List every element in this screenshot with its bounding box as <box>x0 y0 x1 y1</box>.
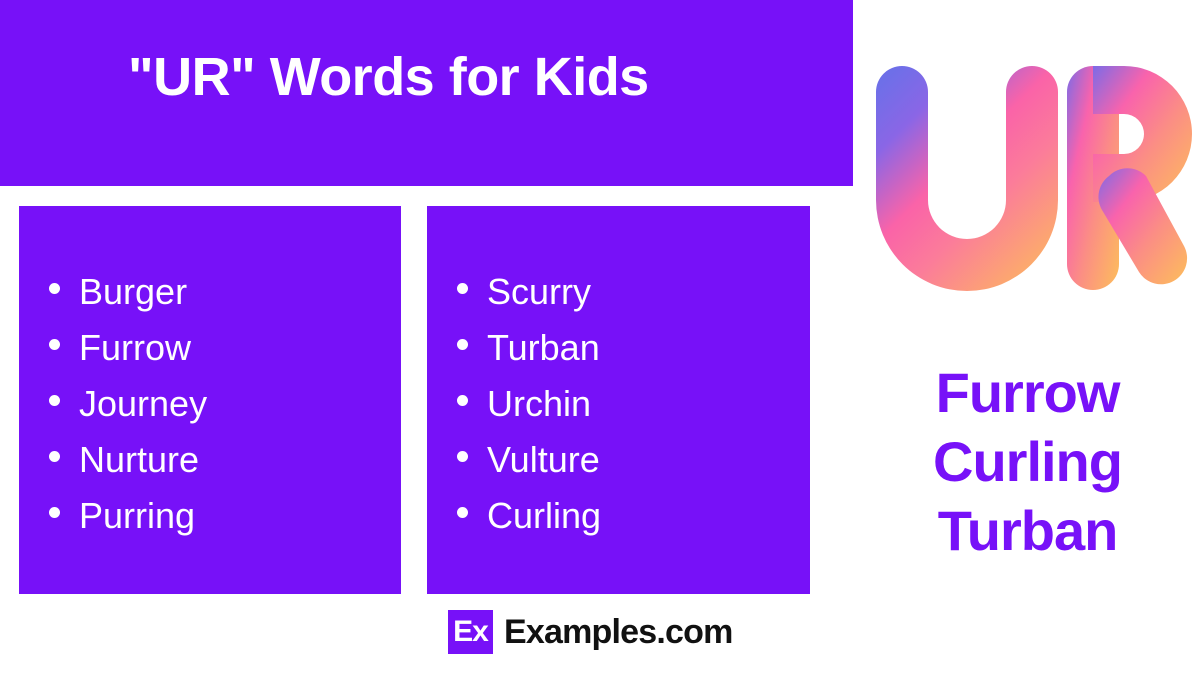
examples-badge-icon: Ex <box>448 610 493 654</box>
list-item: Scurry <box>457 264 601 320</box>
list-item: Furrow <box>49 320 207 376</box>
bullet-icon <box>457 283 468 294</box>
list-item: Purring <box>49 488 207 544</box>
header-banner: "UR" Words for Kids <box>0 0 853 186</box>
word-label: Urchin <box>487 376 591 432</box>
bullet-icon <box>457 339 468 350</box>
list-item: Turban <box>457 320 601 376</box>
list-item: Journey <box>49 376 207 432</box>
word-list-left: Burger Furrow Journey Nurture Purring <box>49 264 207 544</box>
word-label: Vulture <box>487 432 600 488</box>
word-label: Turban <box>487 320 600 376</box>
word-label: Scurry <box>487 264 591 320</box>
ur-logo-icon <box>862 58 1192 298</box>
brand-footer[interactable]: Ex Examples.com <box>448 610 733 654</box>
list-item: Urchin <box>457 376 601 432</box>
word-list-box-right: Scurry Turban Urchin Vulture Curling <box>427 206 810 594</box>
word-label: Curling <box>487 488 601 544</box>
bullet-icon <box>49 395 60 406</box>
bullet-icon <box>457 507 468 518</box>
word-label: Furrow <box>79 320 191 376</box>
featured-word: Curling <box>855 427 1200 496</box>
list-item: Burger <box>49 264 207 320</box>
bullet-icon <box>49 339 60 350</box>
word-list-right: Scurry Turban Urchin Vulture Curling <box>457 264 601 544</box>
bullet-icon <box>457 451 468 462</box>
bullet-icon <box>49 507 60 518</box>
word-label: Nurture <box>79 432 199 488</box>
word-label: Burger <box>79 264 187 320</box>
list-item: Nurture <box>49 432 207 488</box>
list-item: Curling <box>457 488 601 544</box>
featured-words-panel: Furrow Curling Turban <box>855 358 1200 565</box>
list-item: Vulture <box>457 432 601 488</box>
bullet-icon <box>49 451 60 462</box>
featured-word: Turban <box>855 496 1200 565</box>
bullet-icon <box>49 283 60 294</box>
poster-canvas: "UR" Words for Kids Burger Furrow Journe… <box>0 0 1200 675</box>
page-title: "UR" Words for Kids <box>128 50 649 104</box>
word-list-box-left: Burger Furrow Journey Nurture Purring <box>19 206 401 594</box>
word-label: Journey <box>79 376 207 432</box>
word-label: Purring <box>79 488 195 544</box>
brand-name: Examples.com <box>504 613 733 652</box>
featured-word: Furrow <box>855 358 1200 427</box>
bullet-icon <box>457 395 468 406</box>
